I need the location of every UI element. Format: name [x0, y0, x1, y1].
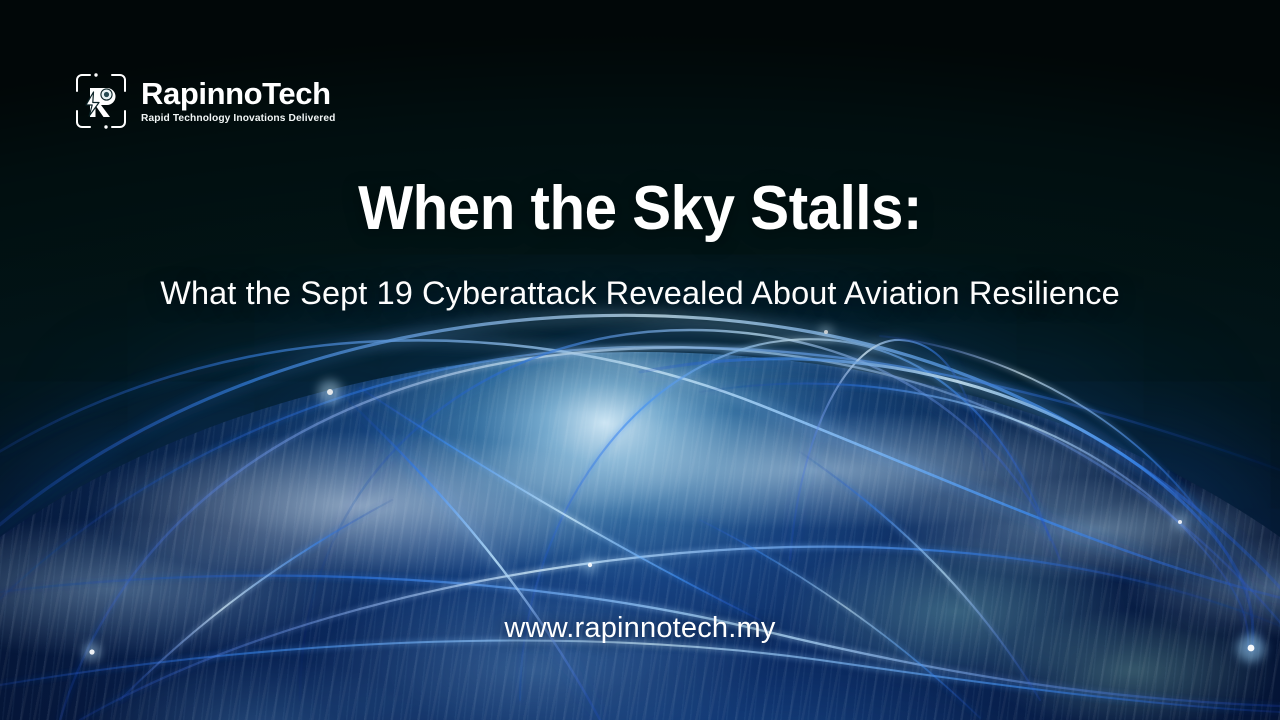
slide-canvas: RapinnoTech Rapid Technology Inovations … [0, 0, 1280, 720]
brand-name: RapinnoTech [141, 78, 335, 110]
brand-tagline: Rapid Technology Inovations Delivered [141, 113, 335, 124]
website-url[interactable]: www.rapinnotech.my [0, 612, 1280, 645]
page-subtitle: What the Sept 19 Cyberattack Revealed Ab… [0, 274, 1280, 313]
rapinno-r-bolt-bracket-icon [74, 72, 128, 130]
page-title: When the Sky Stalls: [38, 176, 1241, 241]
brand-text: RapinnoTech Rapid Technology Inovations … [141, 78, 335, 124]
brand-logo[interactable]: RapinnoTech Rapid Technology Inovations … [74, 72, 335, 130]
